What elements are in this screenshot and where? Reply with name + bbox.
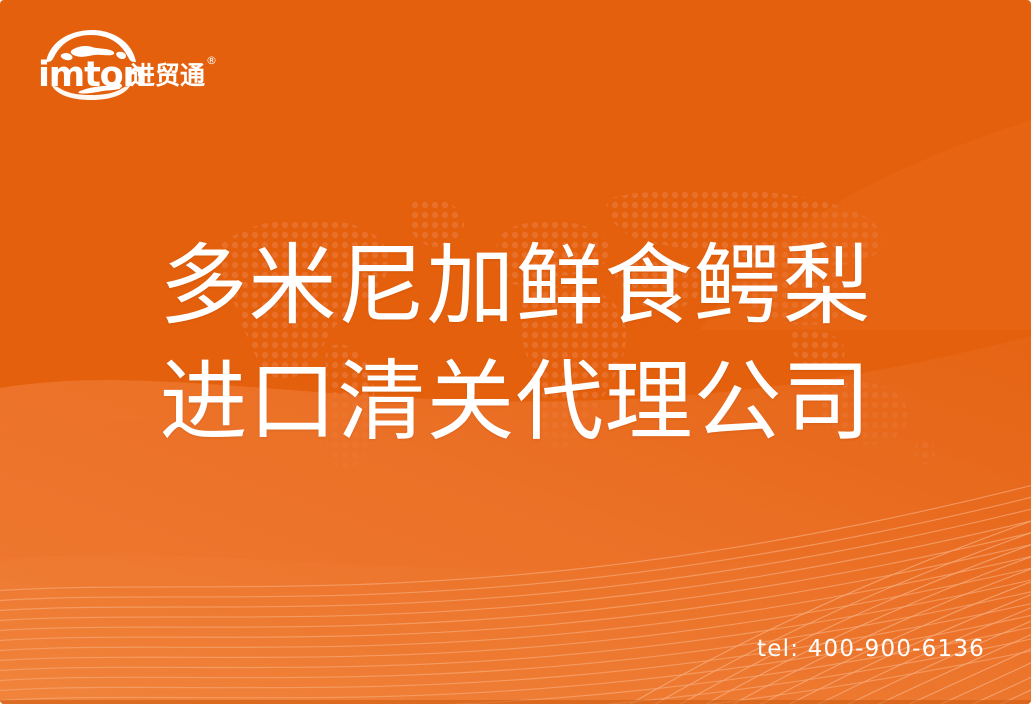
logo-chinese-name: 进贸通 [130, 61, 205, 90]
registered-trademark-icon: ® [206, 54, 217, 67]
company-logo[interactable]: imton 进贸通 ® [38, 28, 218, 100]
headline: 多米尼加鲜食鳄梨 进口清关代理公司 [0, 228, 1031, 460]
contact-telephone[interactable]: tel: 400-900-6136 [757, 636, 985, 662]
promo-banner: imton 进贸通 ® 多米尼加鲜食鳄梨 进口清关代理公司 tel: 400-9… [0, 0, 1031, 704]
headline-line-2: 进口清关代理公司 [0, 344, 1031, 460]
headline-line-1: 多米尼加鲜食鳄梨 [0, 228, 1031, 344]
